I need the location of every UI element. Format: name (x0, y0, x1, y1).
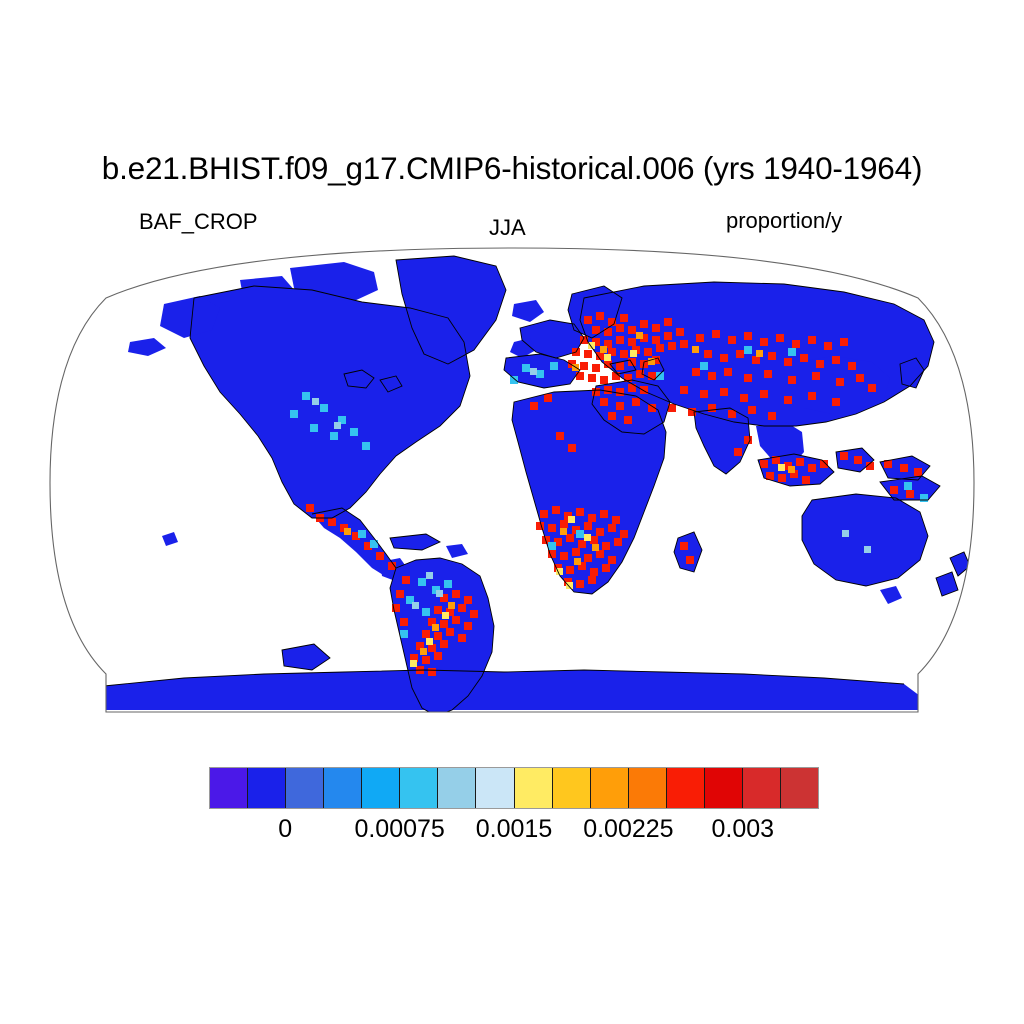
colorbar-cell-9 (553, 768, 591, 808)
colorbar-cell-4 (362, 768, 400, 808)
colorbar-cell-8 (515, 768, 553, 808)
colorbar-tick-4: 0.003 (711, 813, 774, 845)
colorbar-tick-2: 0.0015 (476, 813, 552, 845)
world-map (44, 246, 980, 720)
colorbar-cell-10 (591, 768, 629, 808)
map-canvas (44, 246, 980, 720)
colorbar-cell-11 (629, 768, 667, 808)
variable-label: BAF_CROP (139, 209, 258, 235)
colorbar-tick-0: 0 (278, 813, 292, 845)
colorbar-cell-3 (324, 768, 362, 808)
colorbar-cell-1 (248, 768, 286, 808)
colorbar-cell-0 (210, 768, 248, 808)
colorbar-cell-2 (286, 768, 324, 808)
colorbar-cell-12 (667, 768, 705, 808)
page-title: b.e21.BHIST.f09_g17.CMIP6-historical.006… (0, 148, 1024, 188)
colorbar-cell-6 (438, 768, 476, 808)
units-label: proportion/y (726, 208, 842, 234)
colorbar-cell-14 (743, 768, 781, 808)
colorbar-tick-1: 0.00075 (354, 813, 444, 845)
colorbar-cell-5 (400, 768, 438, 808)
colorbar-tick-3: 0.00225 (583, 813, 673, 845)
colorbar-cell-13 (705, 768, 743, 808)
colorbar: 00.000750.00150.002250.003 (209, 767, 819, 809)
colorbar-cell-7 (476, 768, 514, 808)
colorbar-tick-labels: 00.000750.00150.002250.003 (119, 813, 909, 847)
colorbar-segments (209, 767, 819, 809)
colorbar-cell-15 (781, 768, 818, 808)
climate-map-figure: b.e21.BHIST.f09_g17.CMIP6-historical.006… (0, 0, 1024, 1024)
season-label: JJA (489, 215, 526, 241)
